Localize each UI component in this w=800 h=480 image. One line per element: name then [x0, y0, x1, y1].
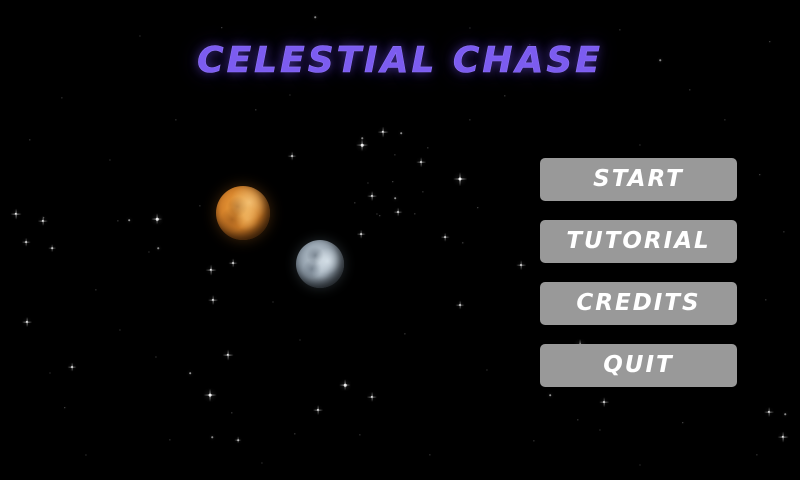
star: [237, 439, 239, 441]
star: [51, 247, 53, 249]
star: [294, 433, 295, 434]
star: [765, 299, 766, 300]
star: [520, 264, 522, 266]
star: [117, 220, 118, 221]
star: [689, 89, 690, 90]
star: [43, 217, 44, 218]
star: [291, 155, 293, 157]
credits-button[interactable]: CREDITS: [540, 282, 737, 325]
star: [477, 207, 478, 208]
star: [157, 247, 159, 249]
star: [420, 161, 422, 163]
moon-planet: [296, 240, 344, 288]
star: [379, 215, 380, 216]
star: [314, 16, 316, 18]
star: [61, 97, 62, 98]
star: [429, 454, 430, 455]
star: [209, 394, 212, 397]
star: [317, 409, 319, 411]
star: [759, 174, 760, 175]
star: [42, 220, 44, 222]
star: [232, 262, 234, 264]
star: [783, 231, 784, 232]
star: [404, 333, 405, 334]
star: [603, 401, 605, 403]
star: [300, 340, 301, 341]
star: [414, 213, 415, 214]
start-button[interactable]: START: [540, 158, 737, 201]
star: [371, 396, 373, 398]
star: [189, 372, 191, 374]
star: [119, 329, 120, 330]
star: [682, 422, 683, 423]
star: [15, 213, 17, 215]
star: [640, 465, 641, 466]
star: [756, 454, 757, 455]
star: [289, 94, 290, 95]
star: [361, 144, 364, 147]
star: [26, 321, 28, 323]
star: [199, 205, 200, 206]
star: [344, 384, 347, 387]
star: [261, 462, 262, 463]
star: [549, 394, 551, 396]
star: [360, 233, 362, 235]
star: [128, 219, 130, 221]
orange-planet: [216, 186, 270, 240]
star: [639, 144, 640, 145]
star: [221, 27, 222, 28]
star: [400, 132, 402, 134]
star: [392, 181, 393, 182]
star: [577, 419, 578, 420]
star: [382, 131, 384, 133]
star: [397, 211, 399, 213]
game-screen: CELESTIAL CHASE START TUTORIAL CREDITS Q…: [0, 0, 800, 480]
star: [95, 289, 96, 290]
star: [139, 35, 140, 36]
star: [210, 269, 212, 271]
star: [422, 191, 423, 192]
star: [155, 356, 156, 357]
star: [231, 412, 232, 413]
star: [486, 369, 487, 370]
star: [361, 137, 363, 139]
game-title: CELESTIAL CHASE: [0, 40, 800, 81]
star: [50, 373, 51, 374]
star: [71, 366, 73, 368]
star: [394, 197, 396, 199]
tutorial-button[interactable]: TUTORIAL: [540, 220, 737, 263]
star: [459, 178, 462, 181]
star: [367, 182, 368, 183]
star: [394, 154, 395, 155]
star: [724, 119, 725, 120]
star: [211, 436, 213, 438]
star: [784, 413, 786, 415]
star: [169, 439, 170, 440]
star: [64, 407, 65, 408]
star: [504, 95, 505, 96]
star: [427, 147, 428, 148]
star: [619, 29, 620, 30]
star: [85, 454, 86, 455]
star: [459, 304, 461, 306]
star: [599, 429, 600, 430]
star: [469, 27, 470, 28]
star: [25, 241, 27, 243]
star: [175, 119, 176, 120]
star: [156, 218, 159, 221]
star: [29, 139, 30, 140]
star: [109, 159, 110, 160]
star: [768, 411, 770, 413]
star: [462, 242, 463, 243]
star: [376, 213, 377, 214]
star: [782, 436, 784, 438]
star: [212, 299, 214, 301]
star: [273, 302, 274, 303]
star: [354, 202, 355, 203]
star: [444, 236, 446, 238]
star: [371, 195, 373, 197]
star: [148, 251, 149, 252]
quit-button[interactable]: QUIT: [540, 344, 737, 387]
star: [359, 434, 360, 435]
star: [533, 440, 534, 441]
main-menu: START TUTORIAL CREDITS QUIT: [540, 158, 737, 387]
star: [469, 119, 470, 120]
star: [255, 109, 256, 110]
star: [227, 354, 229, 356]
